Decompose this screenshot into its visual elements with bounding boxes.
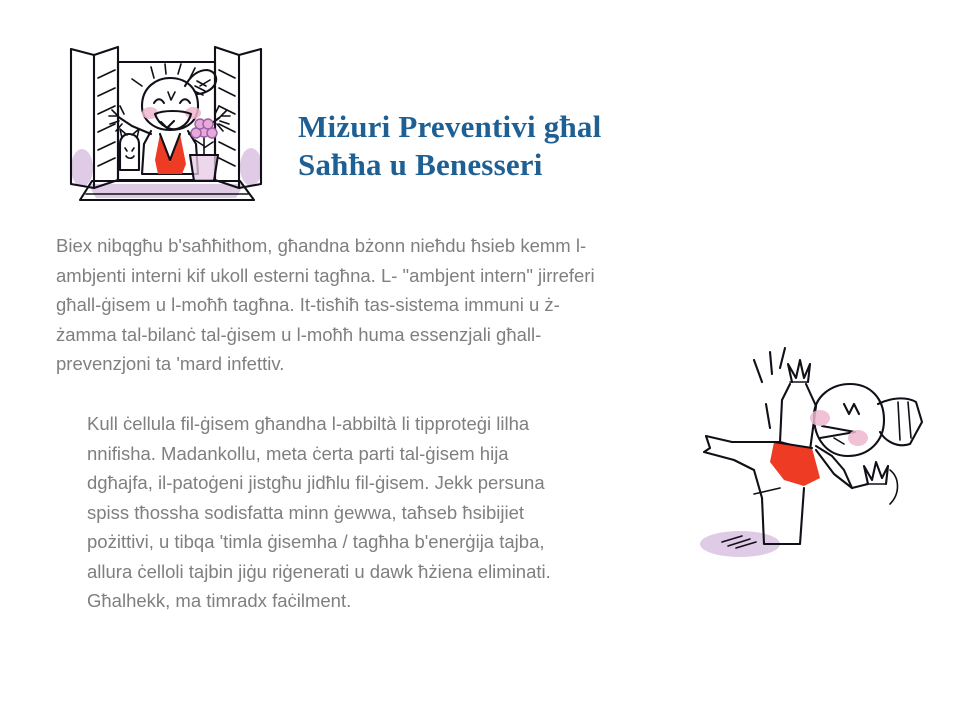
cat: [120, 129, 139, 170]
paragraph-2-line: Għalhekk, ma timradx faċilment.: [87, 586, 727, 616]
body-paragraph-2: Kull ċellula fil-ġisem għandha l-abbiltà…: [87, 409, 727, 616]
potted-flower: [190, 119, 218, 181]
paragraph-2-line: nnifisha. Madankollu, meta ċerta parti t…: [87, 439, 727, 469]
child-at-open-window-illustration: [58, 34, 274, 216]
paragraph-1-line: prevenzjoni ta 'mard infettiv.: [56, 349, 798, 379]
paragraph-2-line: allura ċelloli tajbin jiġu riġenerati u …: [87, 557, 727, 587]
paragraph-1-line: ambjenti interni kif ukoll esterni tagħn…: [56, 261, 798, 291]
paragraph-2-line: pożittivi, u tibqa 'timla ġisemha / tagħ…: [87, 527, 727, 557]
raised-arm: [780, 360, 816, 450]
page-title: Miżuri Preventivi għal Saħħa u Benesseri: [298, 108, 898, 184]
child-stretching-illustration: [692, 338, 944, 580]
body-paragraph-1: Biex nibqgħu b'saħħithom, għandna bżonn …: [56, 231, 798, 379]
child-body: [142, 131, 198, 174]
paragraph-2-line: dgħajfa, il-patoġeni jistgħu jidħlu fil-…: [87, 468, 727, 498]
paragraph-1-line: żamma tal-bilanċ tal-ġisem u l-moħħ huma…: [56, 320, 798, 350]
page-title-line-2: Saħħa u Benesseri: [298, 146, 898, 184]
paragraph-1-line: Biex nibqgħu b'saħħithom, għandna bżonn …: [56, 231, 798, 261]
paragraph-2-line: spiss tħossha sodisfatta minn ġewwa, taħ…: [87, 498, 727, 528]
page-title-line-1: Miżuri Preventivi għal: [298, 108, 898, 146]
forward-arm: [816, 450, 898, 504]
child-head: [810, 384, 884, 456]
sun-rays: [132, 64, 210, 86]
paragraph-1-line: għall-ġisem u l-moħħ tagħna. It-tisħiħ t…: [56, 290, 798, 320]
slide-canvas: Miżuri Preventivi għal Saħħa u Benesseri…: [0, 0, 960, 720]
paragraph-2-line: Kull ċellula fil-ġisem għandha l-abbiltà…: [87, 409, 727, 439]
